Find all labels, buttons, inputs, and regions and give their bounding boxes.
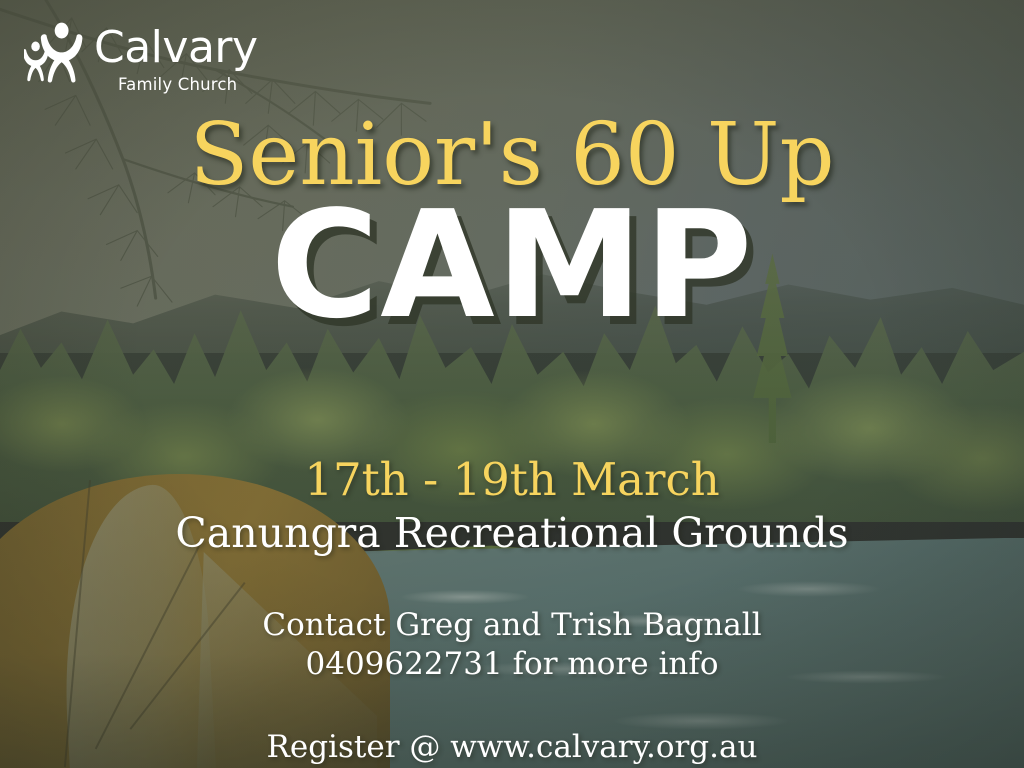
logo-tagline: Family Church	[118, 77, 258, 94]
poster-content: Calvary Family Church Senior's 60 Up CAM…	[0, 0, 1024, 768]
two-figures-raised-arms-icon	[24, 22, 90, 84]
event-poster: Calvary Family Church Senior's 60 Up CAM…	[0, 0, 1024, 768]
headline-line-2: CAMP	[0, 194, 1024, 336]
headline-block: Senior's 60 Up CAMP	[0, 112, 1024, 336]
contact-block: Contact Greg and Trish Bagnall 040962273…	[0, 606, 1024, 684]
details-block: 17th - 19th March Canungra Recreational …	[0, 455, 1024, 767]
logo-wordmark: Calvary Family Church	[94, 26, 258, 94]
event-venue: Canungra Recreational Grounds	[0, 511, 1024, 557]
church-logo[interactable]: Calvary Family Church	[24, 22, 258, 94]
logo-name: Calvary	[94, 26, 258, 70]
event-date: 17th - 19th March	[0, 455, 1024, 505]
contact-phone: 0409622731 for more info	[0, 645, 1024, 684]
register-url[interactable]: Register @ www.calvary.org.au	[0, 728, 1024, 767]
contact-names: Contact Greg and Trish Bagnall	[0, 606, 1024, 645]
